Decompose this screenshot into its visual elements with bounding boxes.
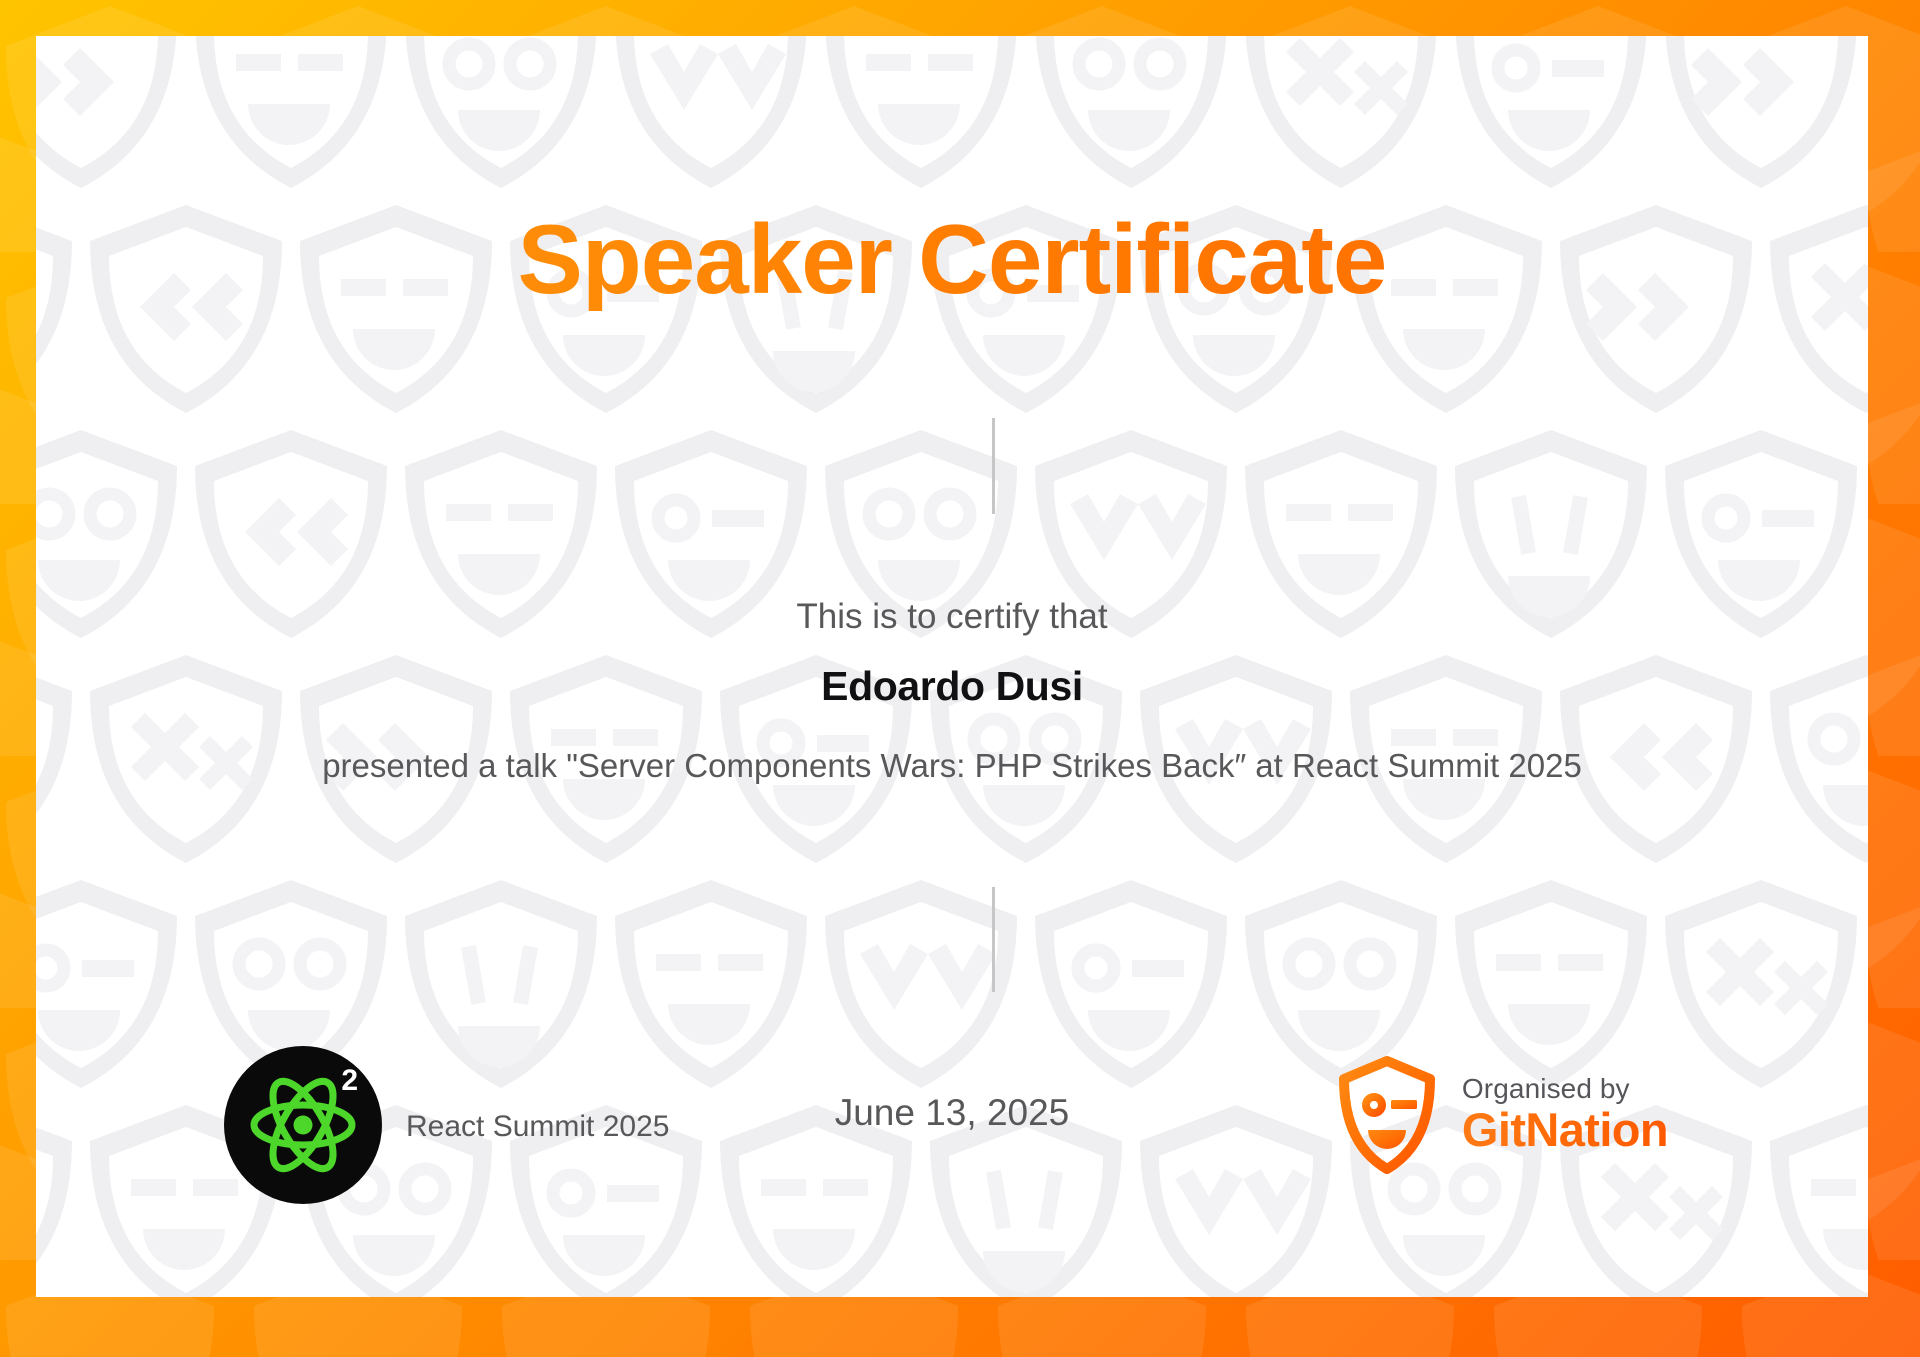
certificate-footer: 2 React Summit 2025 June 13, 2025	[36, 1046, 1868, 1206]
divider-bottom	[992, 887, 995, 992]
organised-by-label: Organised by	[1462, 1073, 1668, 1104]
gitnation-shield-icon	[1338, 1056, 1436, 1174]
recipient-name: Edoardo Dusi	[36, 663, 1868, 710]
certificate-root: Speaker Certificate This is to certify t…	[0, 0, 1920, 1357]
talk-description: presented a talk "Server Components Wars…	[274, 741, 1630, 791]
certificate-card: Speaker Certificate This is to certify t…	[36, 36, 1868, 1297]
page-title: Speaker Certificate	[36, 208, 1868, 311]
organiser-block: Organised by GitNation	[1338, 1056, 1668, 1174]
gitnation-wordmark: GitNation	[1462, 1104, 1668, 1157]
certify-line: This is to certify that	[36, 597, 1868, 637]
organiser-text: Organised by GitNation	[1462, 1073, 1668, 1157]
divider-top	[992, 418, 995, 514]
